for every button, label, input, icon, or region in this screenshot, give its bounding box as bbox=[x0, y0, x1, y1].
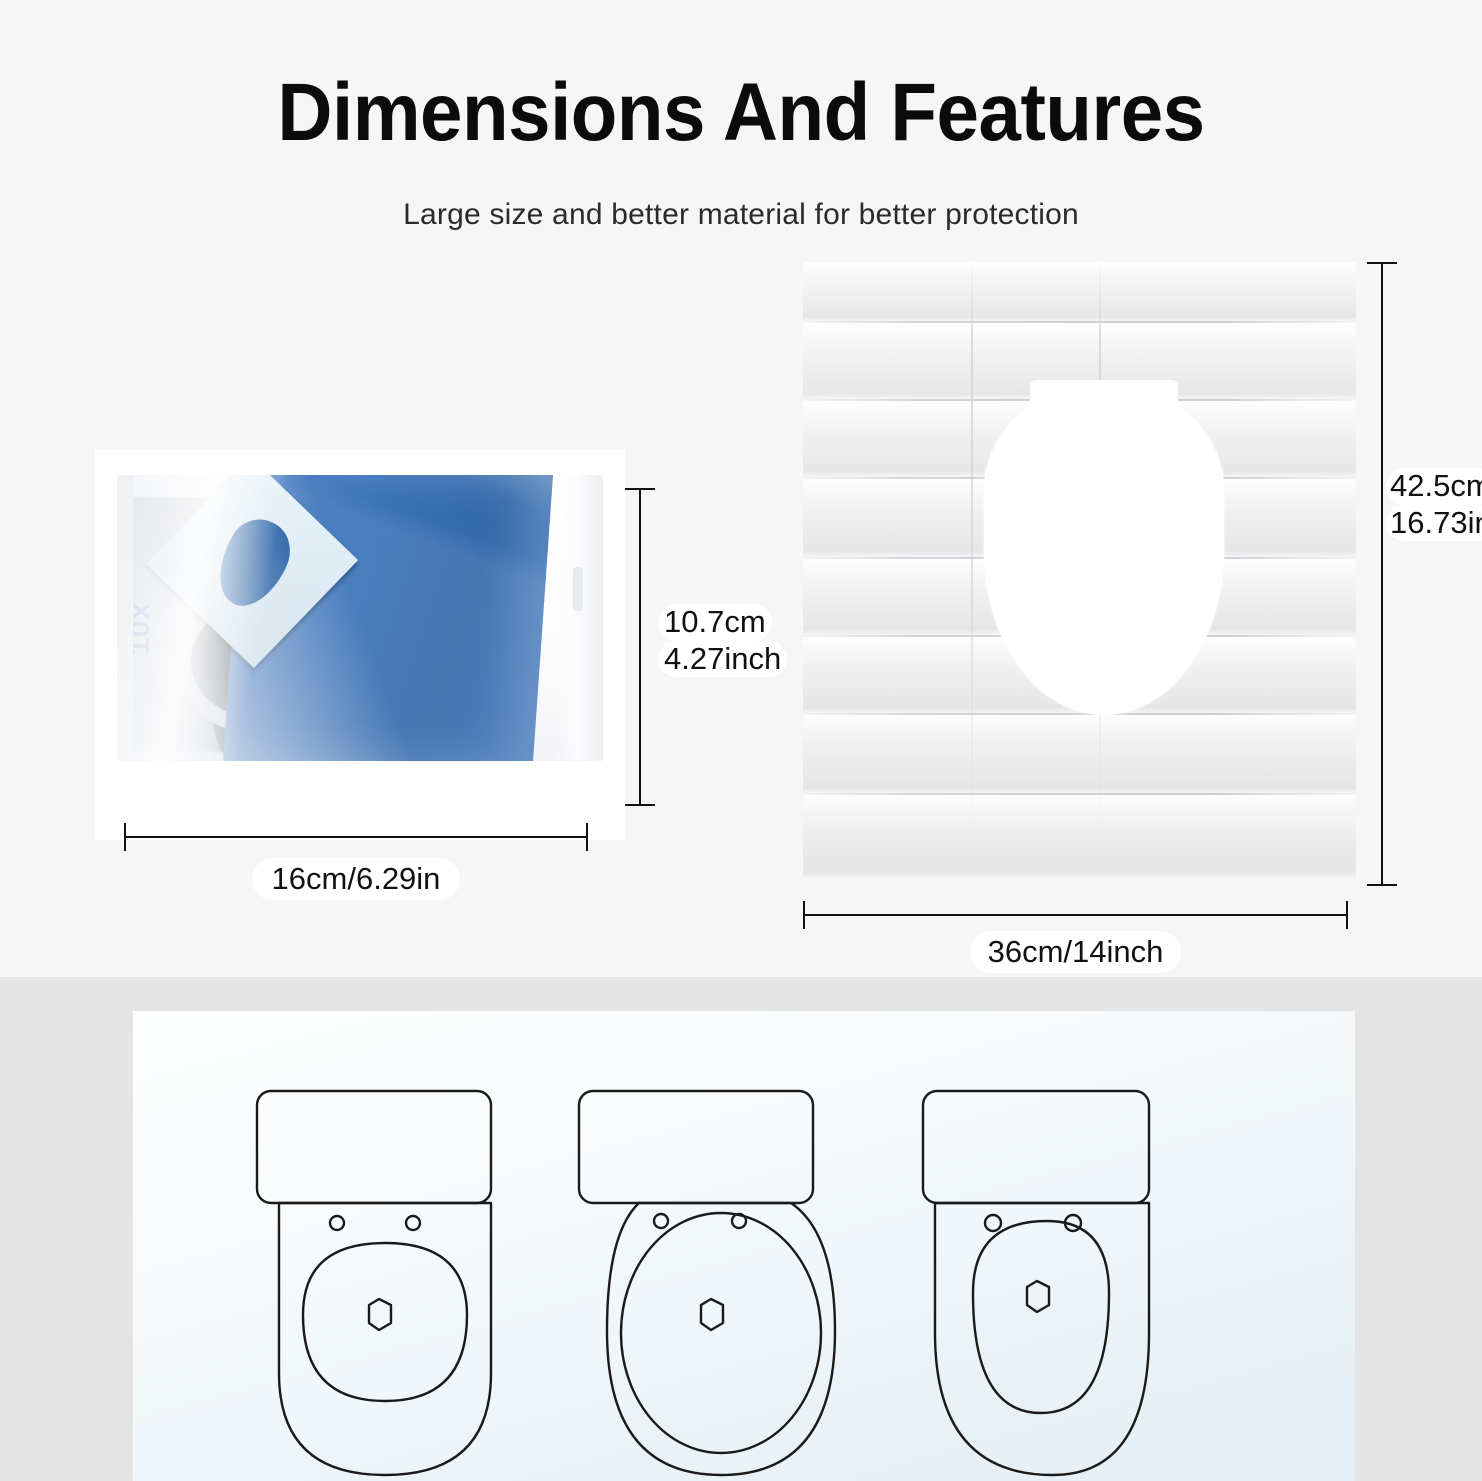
cover-height-dimension-line bbox=[1381, 262, 1383, 886]
toilet-tank bbox=[257, 1091, 491, 1203]
toilet-diagram-round-front bbox=[561, 1083, 891, 1481]
cover-sheet-photo bbox=[803, 262, 1356, 879]
package-height-label: 10.7cm 4.27inch bbox=[658, 604, 787, 677]
cover-width-dimension-line bbox=[803, 914, 1348, 916]
cover-height-label: 42.5cm 16.73in bbox=[1386, 468, 1482, 541]
bag-tear-notch bbox=[573, 567, 583, 611]
package-height-dimension-line bbox=[639, 488, 641, 806]
cover-fold-crease bbox=[803, 713, 1356, 715]
cover-fold-crease bbox=[803, 321, 1356, 323]
cover-width-value: 36cm/14inch bbox=[970, 931, 1182, 973]
dimensions-section: Dimensions And Features Large size and b… bbox=[0, 0, 1482, 977]
toilet-bowl-outline bbox=[935, 1203, 1149, 1475]
page-subtitle: Large size and better material for bette… bbox=[0, 198, 1482, 232]
package-width-dimension-line bbox=[124, 836, 588, 838]
toilet-center-mark bbox=[701, 1299, 723, 1330]
package-width-value: 16cm/6.29in bbox=[252, 858, 461, 900]
toilet-diagram-elongated-front bbox=[901, 1083, 1231, 1481]
toilet-bolt-hole-right bbox=[406, 1216, 420, 1230]
cover-fold-band bbox=[803, 262, 1356, 322]
toilet-tank bbox=[579, 1091, 813, 1203]
package-bag: TOILET SEAT COVERS 10x bbox=[117, 475, 603, 761]
package-width-label: 16cm/6.29in bbox=[124, 858, 588, 900]
toilet-seat-ring bbox=[303, 1243, 467, 1401]
toilet-bolt-hole-left bbox=[330, 1216, 344, 1230]
package-photo: TOILET SEAT COVERS 10x bbox=[95, 450, 625, 840]
cover-width-label: 36cm/14inch bbox=[803, 931, 1348, 973]
cover-fold-crease bbox=[803, 793, 1356, 795]
cover-vertical-crease bbox=[971, 262, 973, 879]
toilet-seat-ring bbox=[973, 1221, 1109, 1413]
toilet-center-mark bbox=[369, 1299, 391, 1330]
toilet-bowl-outline bbox=[607, 1203, 835, 1475]
toilet-tank bbox=[923, 1091, 1149, 1203]
cover-height-cm: 42.5cm bbox=[1386, 468, 1482, 505]
toilet-bolt-hole-left bbox=[654, 1214, 668, 1228]
package-height-cm: 10.7cm bbox=[658, 604, 772, 641]
package-height-inch: 4.27inch bbox=[658, 641, 787, 678]
bag-seal-right bbox=[557, 475, 603, 761]
cover-seat-cutout-neck bbox=[1030, 380, 1178, 432]
toilet-bolt-hole-left bbox=[985, 1215, 1001, 1231]
bag-seal-left bbox=[117, 475, 133, 761]
toilet-diagram-square-front bbox=[221, 1083, 551, 1481]
cover-seat-cutout bbox=[984, 385, 1224, 715]
toilet-center-mark bbox=[1027, 1281, 1049, 1312]
page-title: Dimensions And Features bbox=[52, 66, 1430, 160]
toilet-shapes-panel bbox=[133, 1011, 1355, 1481]
cover-fold-band bbox=[803, 794, 1356, 879]
cover-fold-band bbox=[803, 714, 1356, 794]
cover-height-inch: 16.73in bbox=[1386, 505, 1482, 542]
cover-sheet-cutout bbox=[206, 509, 301, 617]
toilet-seat-ring bbox=[621, 1213, 821, 1453]
